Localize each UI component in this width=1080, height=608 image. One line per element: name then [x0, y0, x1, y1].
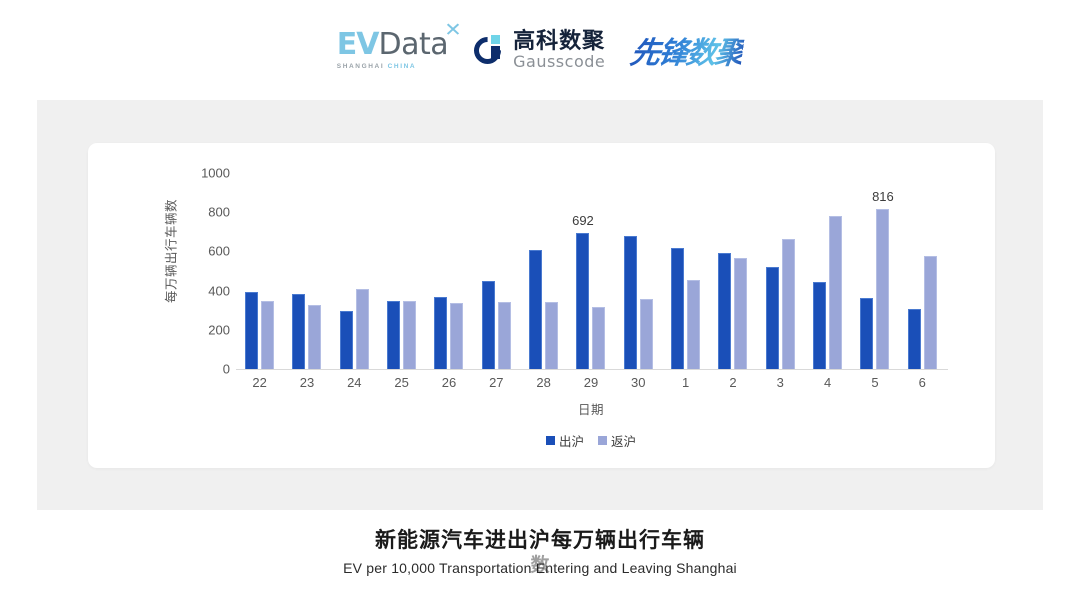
- x-axis-tick-label: 28: [520, 375, 567, 390]
- x-axis-tick-label: 29: [567, 375, 614, 390]
- bar-back: [261, 301, 274, 369]
- bar-out: [860, 298, 873, 369]
- screenshot-root: EV Data ✕ SHANGHAI CHINA 高科数聚 Gausscode …: [0, 0, 1080, 608]
- x-axis-tick-label: 1: [662, 375, 709, 390]
- bar-group: [236, 173, 283, 369]
- y-axis-ticks: 02004006008001000: [186, 143, 230, 468]
- chart-card: 每万辆出行车辆数 02004006008001000 692816 222324…: [88, 143, 995, 468]
- legend-swatch-icon: [598, 436, 607, 445]
- caption-block: 新能源汽车进出沪每万辆出行车辆 数 EV per 10,000 Transpor…: [0, 528, 1080, 576]
- x-axis-tick-label: 23: [283, 375, 330, 390]
- bar-out: [387, 301, 400, 369]
- bar-back: [545, 302, 558, 369]
- bar-back: 816: [876, 209, 889, 369]
- x-axis-tick-label: 6: [899, 375, 946, 390]
- bar-value-label: 816: [872, 189, 894, 204]
- bar-out: [718, 253, 731, 369]
- bar-group: [378, 173, 425, 369]
- bar-out: [340, 311, 353, 369]
- bar-out: [766, 267, 779, 369]
- bar-group: 816: [851, 173, 898, 369]
- y-axis-tick-800: 800: [208, 205, 230, 220]
- bar-out: [245, 292, 258, 369]
- bar-back: [403, 301, 416, 369]
- gausscode-logo: 高科数聚 Gausscode: [474, 31, 605, 70]
- bar-group: [283, 173, 330, 369]
- evdata-logo: EV Data ✕ SHANGHAI CHINA: [337, 30, 448, 70]
- bar-group: [662, 173, 709, 369]
- gausscode-chinese-name: 高科数聚: [513, 31, 605, 53]
- bar-out: [292, 294, 305, 369]
- bar-back: [592, 307, 605, 369]
- legend-swatch-icon: [546, 436, 555, 445]
- bar-group: [520, 173, 567, 369]
- x-axis-tick-labels: 222324252627282930123456: [236, 375, 946, 390]
- evdata-tagline-country: CHINA: [388, 63, 417, 70]
- logo-bar: EV Data ✕ SHANGHAI CHINA 高科数聚 Gausscode …: [0, 18, 1080, 82]
- evdata-wordmark: EV Data ✕: [337, 30, 448, 60]
- caption-subtitle: EV per 10,000 Transportation Entering an…: [0, 560, 1080, 576]
- bar-back: [782, 239, 795, 369]
- legend-label: 返沪: [611, 431, 636, 450]
- plot-area: 692816: [236, 173, 946, 369]
- xianfeng-logo: 先锋数聚: [631, 28, 743, 72]
- bar-out: [908, 309, 921, 369]
- bar-group: 692: [567, 173, 614, 369]
- x-axis-title: 日期: [236, 399, 946, 418]
- x-axis-tick-label: 2: [709, 375, 756, 390]
- bar-back: [356, 289, 369, 369]
- gausscode-wordmark: 高科数聚 Gausscode: [513, 31, 605, 70]
- y-axis-tick-600: 600: [208, 244, 230, 259]
- bar-back: [308, 305, 321, 369]
- x-axis-line: [236, 369, 948, 370]
- bar-chart: 每万辆出行车辆数 02004006008001000 692816 222324…: [88, 143, 995, 468]
- bar-back: [640, 299, 653, 369]
- bar-group: [473, 173, 520, 369]
- xianfeng-wordmark: 先锋数聚: [628, 28, 746, 72]
- x-axis-tick-label: 30: [615, 375, 662, 390]
- y-axis-tick-0: 0: [223, 362, 230, 377]
- bar-group: [425, 173, 472, 369]
- evdata-tagline: SHANGHAI CHINA: [337, 63, 416, 70]
- bar-out: [671, 248, 684, 369]
- chart-legend: 出沪返沪: [236, 431, 946, 450]
- x-axis-tick-label: 27: [473, 375, 520, 390]
- evdata-data-text: Data: [378, 30, 448, 60]
- bar-out: [529, 250, 542, 369]
- bar-back: [687, 280, 700, 369]
- bar-group: [709, 173, 756, 369]
- gausscode-square-cyan-shape: [491, 35, 500, 44]
- bar-out: [813, 282, 826, 369]
- x-axis-tick-label: 4: [804, 375, 851, 390]
- gausscode-mark-icon: [474, 34, 506, 66]
- bar-group: [331, 173, 378, 369]
- legend-label: 出沪: [559, 431, 584, 450]
- bar-group: [899, 173, 946, 369]
- bar-out: 692: [576, 233, 589, 369]
- x-axis-tick-label: 22: [236, 375, 283, 390]
- y-axis-tick-200: 200: [208, 322, 230, 337]
- bar-back: [498, 302, 511, 369]
- x-axis-tick-label: 26: [425, 375, 472, 390]
- evdata-x-icon: ✕: [444, 21, 462, 40]
- bar-out: [624, 236, 637, 369]
- x-axis-tick-label: 24: [331, 375, 378, 390]
- x-axis-tick-label: 25: [378, 375, 425, 390]
- y-axis-title: 每万辆出行车辆数: [161, 199, 180, 303]
- gausscode-square-navy-shape: [491, 46, 500, 59]
- y-axis-tick-1000: 1000: [201, 166, 230, 181]
- evdata-ev-text: EV: [337, 30, 379, 60]
- evdata-tagline-city: SHANGHAI: [337, 63, 384, 70]
- bar-back: [734, 258, 747, 369]
- caption-title: 新能源汽车进出沪每万辆出行车辆: [0, 528, 1080, 554]
- bar-group: [804, 173, 851, 369]
- bar-value-label: 692: [572, 213, 594, 228]
- bar-back: [924, 256, 937, 369]
- bar-group: [757, 173, 804, 369]
- gausscode-ring-shape: [469, 31, 507, 69]
- bar-back: [450, 303, 463, 369]
- x-axis-tick-label: 5: [851, 375, 898, 390]
- bar-out: [482, 281, 495, 369]
- bar-columns: 692816: [236, 173, 946, 369]
- legend-item-out[interactable]: 出沪: [546, 431, 584, 450]
- bar-back: [829, 216, 842, 369]
- y-axis-tick-400: 400: [208, 283, 230, 298]
- bar-group: [615, 173, 662, 369]
- x-axis-tick-label: 3: [757, 375, 804, 390]
- bar-out: [434, 297, 447, 369]
- gausscode-english-name: Gausscode: [513, 54, 605, 70]
- legend-item-back[interactable]: 返沪: [598, 431, 636, 450]
